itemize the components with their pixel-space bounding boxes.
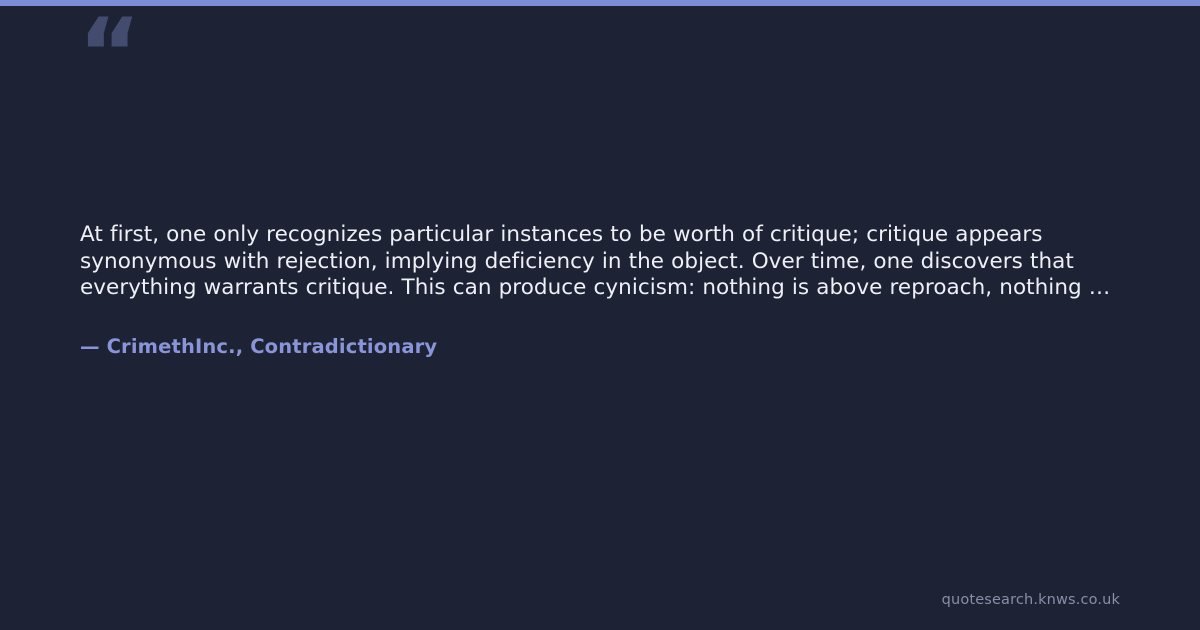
quote-card: “ At first, one only recognizes particul… [0,0,1200,630]
quote-attribution: — CrimethInc., Contradictionary [80,302,1124,359]
quote-body: At first, one only recognizes particular… [80,222,1124,359]
open-quotation-mark-icon: “ [78,6,198,102]
source-url-watermark: quotesearch.knws.co.uk [942,591,1120,609]
quote-text: At first, one only recognizes particular… [80,222,1124,302]
